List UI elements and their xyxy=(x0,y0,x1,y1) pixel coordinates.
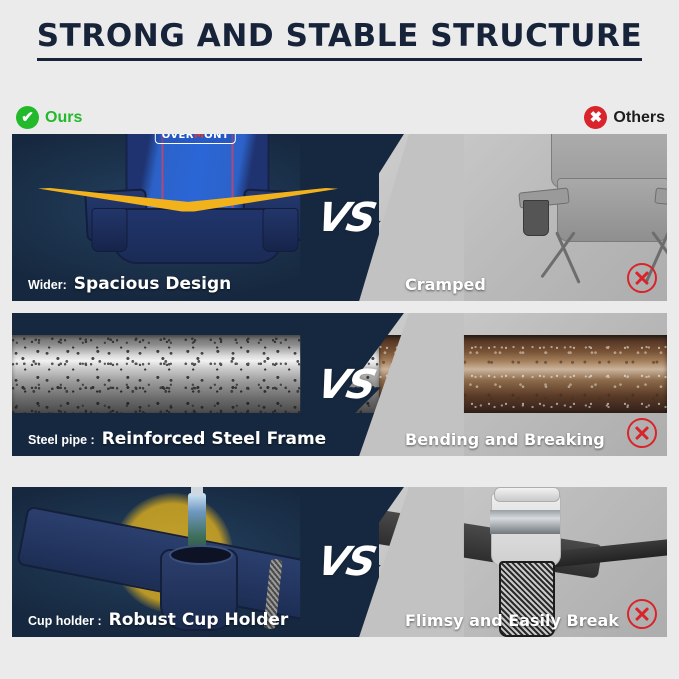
panel-1-left-caption: Wider: Spacious Design xyxy=(28,274,231,294)
page-title-wrap: STRONG AND STABLE STRUCTURE xyxy=(0,18,679,61)
panel-2-left-caption: Steel pipe : Reinforced Steel Frame xyxy=(28,429,326,449)
panel-1-right-caption: Cramped xyxy=(405,275,486,294)
panel-3-vs-label: VS xyxy=(314,542,378,582)
generic-cupholder-left xyxy=(523,200,549,236)
panel-2-red-x-mark xyxy=(627,418,657,448)
panel-3-left-prefix: Cup holder : xyxy=(28,614,102,628)
panel-2-left-headline: Reinforced Steel Frame xyxy=(102,429,327,449)
logo-part1: OVER xyxy=(162,134,194,141)
comparison-panel-steel-frame: Steel pipe : Reinforced Steel Frame VS B… xyxy=(12,313,667,456)
logo-accent-m: M xyxy=(194,134,204,141)
overmont-logo: OVERMONT xyxy=(155,134,236,144)
page-title: STRONG AND STABLE STRUCTURE xyxy=(37,18,643,61)
panel-2-right-caption: Bending and Breaking xyxy=(405,430,605,449)
comparison-panel-cup-holder: Cup holder : Robust Cup Holder VS Flimsy… xyxy=(12,487,667,637)
panel-3-right-caption: Flimsy and Easily Break xyxy=(405,611,619,630)
legend-others-label: Others xyxy=(613,109,665,127)
logo-part2: ONT xyxy=(204,134,229,141)
chair-cupholder-right xyxy=(263,208,299,252)
chair-cupholder-left xyxy=(92,208,128,252)
chair-seat xyxy=(112,208,284,264)
panel-2-right-headline: Bending and Breaking xyxy=(405,430,605,449)
panel-1-left-prefix: Wider: xyxy=(28,278,67,292)
infographic-page: STRONG AND STABLE STRUCTURE ✔ Ours ✖ Oth… xyxy=(0,0,679,679)
panel-1-red-x-mark xyxy=(627,263,657,293)
panel-2-vs-label: VS xyxy=(314,365,378,405)
panel-3-right-headline: Flimsy and Easily Break xyxy=(405,611,619,630)
legend-ours-label: Ours xyxy=(45,109,82,127)
steel-tumbler xyxy=(491,493,561,567)
panel-3-red-x-mark xyxy=(627,599,657,629)
panel-3-left-headline: Robust Cup Holder xyxy=(109,610,289,630)
overmont-chair-image: OVERMONT xyxy=(88,134,303,292)
legend-others: ✖ Others xyxy=(584,106,665,129)
x-circle-icon: ✖ xyxy=(584,106,607,129)
panel-2-left-prefix: Steel pipe : xyxy=(28,433,95,447)
panel-1-vs-label: VS xyxy=(314,198,378,238)
comparison-panel-spacious-design: OVERMONT Wider: Spacious Design xyxy=(12,134,667,301)
legend-ours: ✔ Ours xyxy=(16,106,82,129)
panel-3-left-caption: Cup holder : Robust Cup Holder xyxy=(28,610,288,630)
panel-1-left-headline: Spacious Design xyxy=(74,274,231,294)
overmont-logo-text: OVERMONT xyxy=(162,134,229,141)
panel-1-right-headline: Cramped xyxy=(405,275,486,294)
check-circle-icon: ✔ xyxy=(16,106,39,129)
